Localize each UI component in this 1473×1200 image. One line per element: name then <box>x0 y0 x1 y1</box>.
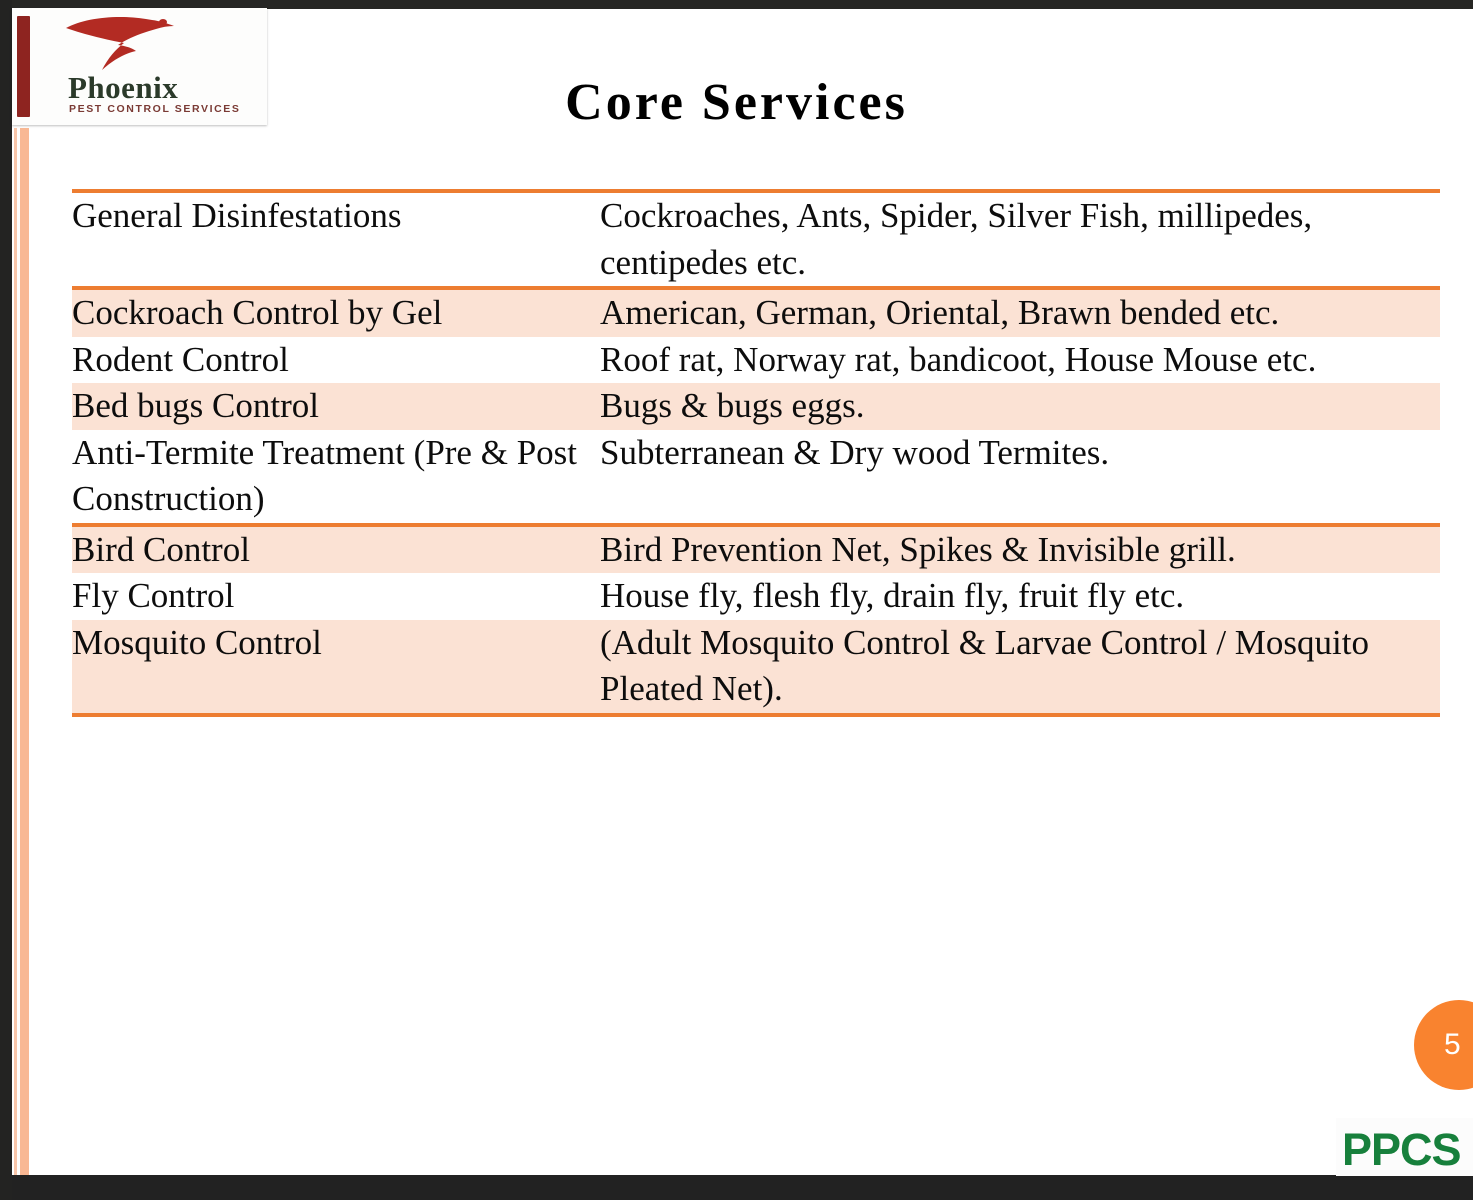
table-row: Bed bugs Control Bugs & bugs eggs. <box>72 383 1440 430</box>
service-name-cell: General Disinfestations <box>72 191 600 288</box>
service-detail-cell: (Adult Mosquito Control & Larvae Control… <box>600 620 1440 715</box>
service-name-cell: Cockroach Control by Gel <box>72 288 600 337</box>
service-name-cell: Mosquito Control <box>72 620 600 715</box>
service-name-cell: Rodent Control <box>72 337 600 384</box>
service-detail-cell: House fly, flesh fly, drain fly, fruit f… <box>600 573 1440 620</box>
table-row: Anti-Termite Treatment (Pre & Post Const… <box>72 430 1440 525</box>
service-name-cell: Fly Control <box>72 573 600 620</box>
service-name-cell: Bird Control <box>72 525 600 574</box>
service-detail-cell: Cockroaches, Ants, Spider, Silver Fish, … <box>600 191 1440 288</box>
frame-left-border <box>0 0 12 1200</box>
decorative-stripe-thick <box>20 128 29 1175</box>
table-row: General DisinfestationsCockroaches, Ants… <box>72 191 1440 288</box>
page-title: Core Services <box>0 73 1473 132</box>
table-row: Bird Control Bird Prevention Net, Spikes… <box>72 525 1440 574</box>
service-detail-cell: Roof rat, Norway rat, bandicoot, House M… <box>600 337 1440 384</box>
core-services-table: General DisinfestationsCockroaches, Ants… <box>72 189 1440 717</box>
table-body: General DisinfestationsCockroaches, Ants… <box>72 191 1440 715</box>
service-detail-cell: Bird Prevention Net, Spikes & Invisible … <box>600 525 1440 574</box>
frame-bottom-border <box>0 1175 1473 1200</box>
page-number-label: 5 <box>1444 1028 1461 1062</box>
service-name-cell: Anti-Termite Treatment (Pre & Post Const… <box>72 430 600 525</box>
service-detail-cell: American, German, Oriental, Brawn bended… <box>600 288 1440 337</box>
phoenix-bird-icon <box>64 12 180 76</box>
ppcs-footer-logo: PPCS <box>1336 1118 1473 1176</box>
page-number-badge: 5 <box>1414 1000 1473 1090</box>
table-row: Mosquito Control(Adult Mosquito Control … <box>72 620 1440 715</box>
decorative-stripe-thin <box>14 128 17 1175</box>
table-row: Cockroach Control by Gel American, Germa… <box>72 288 1440 337</box>
service-name-cell: Bed bugs Control <box>72 383 600 430</box>
table-row: Fly Control House fly, flesh fly, drain … <box>72 573 1440 620</box>
table-row: Rodent Control Roof rat, Norway rat, ban… <box>72 337 1440 384</box>
service-detail-cell: Bugs & bugs eggs. <box>600 383 1440 430</box>
service-detail-cell: Subterranean & Dry wood Termites. <box>600 430 1440 525</box>
ppcs-wordmark: PPCS <box>1342 1124 1461 1176</box>
slide-canvas: Phoenix PEST CONTROL SERVICES Core Servi… <box>0 0 1473 1200</box>
